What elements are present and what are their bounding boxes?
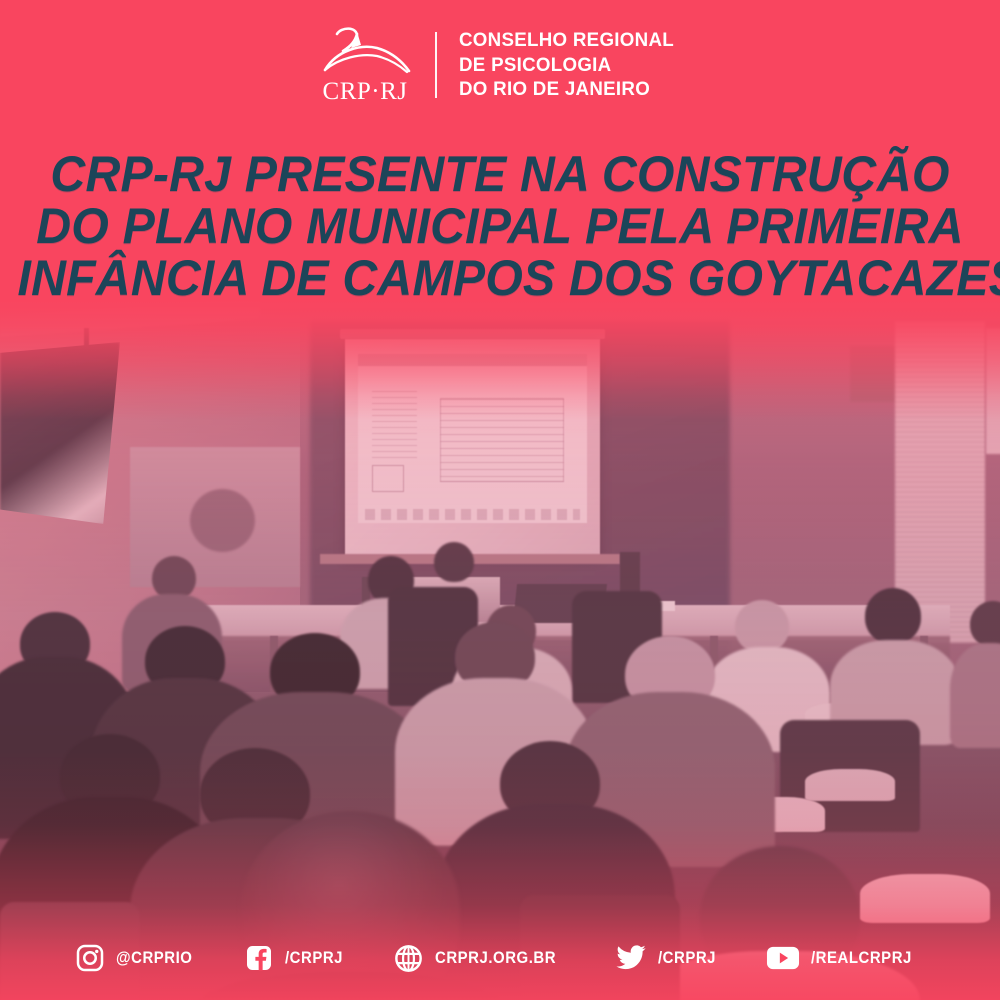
logo-divider (435, 32, 437, 98)
social-label-youtube: /REALCRPRJ (811, 948, 912, 968)
photo-scene (0, 300, 1000, 1000)
event-photo (0, 300, 1000, 1000)
room-window-secondary (986, 328, 1000, 454)
slide-taskbar (365, 509, 581, 519)
org-line-1: CONSELHO REGIONAL (459, 28, 674, 53)
social-link-facebook[interactable]: /CRPRJ (223, 943, 372, 973)
social-link-twitter[interactable]: /CRPRJ (594, 942, 745, 974)
headline-line-1: CRP-RJ PRESENTE NA CONSTRUÇÃO (18, 148, 983, 200)
org-line-3: DO RIO DE JANEIRO (459, 77, 674, 102)
chair-tablet-arm (805, 769, 895, 801)
headline-line-3: INFÂNCIA DE CAMPOS DOS GOYTACAZES (18, 252, 983, 304)
social-label-twitter: /CRPRJ (658, 948, 716, 968)
logo-wordmark: CRP·RJ (323, 79, 408, 104)
chair-tablet-arm (860, 874, 990, 923)
social-bar: @CRPRIO /CRPRJ CRPRJ.ORG.BR /CRPRJ (0, 938, 1000, 978)
projector-screen (345, 339, 600, 556)
social-label-website: CRPRJ.ORG.BR (435, 948, 556, 968)
twitter-icon (615, 942, 647, 974)
social-label-facebook: /CRPRJ (285, 948, 343, 968)
person-body (950, 643, 1000, 748)
brand-header: CRP·RJ CONSELHO REGIONAL DE PSICOLOGIA D… (0, 22, 1000, 108)
slide-thumbnail (372, 465, 404, 492)
headline-line-2: DO PLANO MUNICIPAL PELA PRIMEIRA (18, 200, 983, 252)
instagram-icon (75, 943, 105, 973)
youtube-icon (766, 945, 800, 971)
organization-name: CONSELHO REGIONAL DE PSICOLOGIA DO RIO D… (459, 28, 674, 102)
slide-toolbar (358, 354, 588, 366)
crp-rj-bird-book-icon (317, 26, 413, 78)
crp-rj-logo: CRP·RJ (317, 26, 413, 104)
social-link-youtube[interactable]: /REALCRPRJ (745, 945, 947, 971)
org-line-2: DE PSICOLOGIA (459, 53, 674, 78)
social-label-instagram: @CRPRIO (116, 948, 192, 968)
banner-seal (190, 489, 255, 552)
flag (0, 342, 120, 524)
globe-icon (393, 943, 424, 974)
slide-sidebar (372, 391, 418, 459)
social-link-website[interactable]: CRPRJ.ORG.BR (372, 943, 594, 974)
social-link-instagram[interactable]: @CRPRIO (54, 943, 224, 973)
person-head (434, 542, 474, 583)
facebook-icon (244, 943, 274, 973)
projected-slide (358, 354, 588, 523)
social-media-post: CRP·RJ CONSELHO REGIONAL DE PSICOLOGIA D… (0, 0, 1000, 1000)
person-head (865, 588, 921, 644)
person-head (735, 600, 789, 653)
headline: CRP-RJ PRESENTE NA CONSTRUÇÃO DO PLANO M… (18, 148, 983, 304)
slide-table (440, 398, 564, 483)
